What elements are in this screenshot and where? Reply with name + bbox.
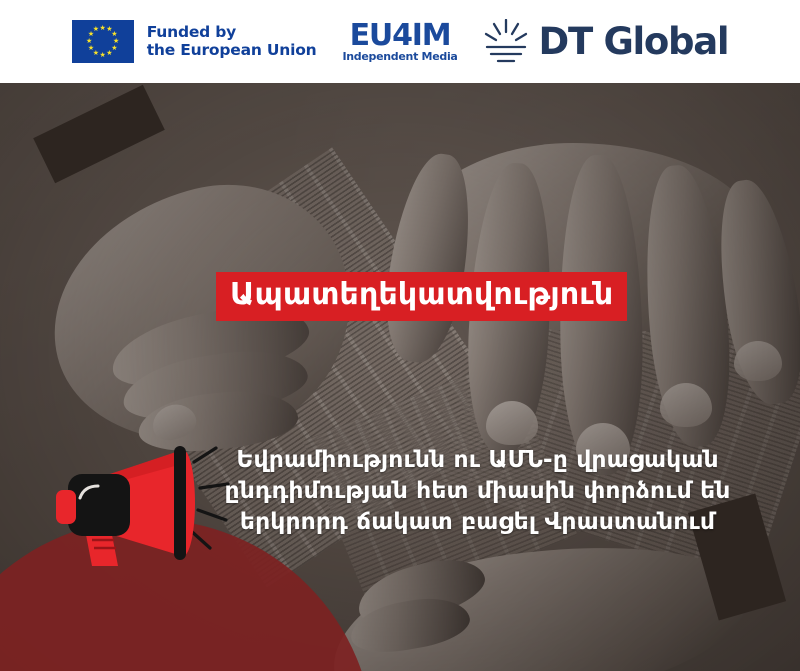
- donor-header: ★★★★★★★★★★★★ Funded by the European Unio…: [0, 0, 800, 83]
- eu-star-icon: ★: [99, 52, 106, 59]
- eu-flag-icon: ★★★★★★★★★★★★: [72, 20, 134, 63]
- body-line-2: ընդդիմության հետ միասին փորձում են: [195, 475, 760, 506]
- sunburst-lines-icon: [484, 19, 528, 65]
- body-text-block: Եվրամիությունն ու ԱՄՆ-ը վրացական ընդդիմո…: [195, 444, 760, 537]
- eu-star-icon: ★: [92, 26, 99, 33]
- eu-funding-line-1: Funded by: [147, 24, 317, 42]
- eu-funding-logo: ★★★★★★★★★★★★ Funded by the European Unio…: [72, 20, 317, 63]
- dt-global-logo: DT Global: [484, 19, 729, 65]
- eu-star-icon: ★: [106, 50, 113, 57]
- title-band: Ապատեղեկատվություն: [216, 272, 627, 321]
- page-title: Ապատեղեկատվություն: [230, 278, 613, 312]
- body-line-3: երկրորդ ճակատ բացել Վրաստանում: [195, 506, 760, 537]
- eu4im-tagline: Independent Media: [342, 50, 457, 63]
- dt-global-wordmark: DT Global: [539, 23, 729, 60]
- eu-star-icon: ★: [86, 38, 93, 45]
- eu4im-wordmark: EU4IM: [350, 21, 451, 50]
- eu-star-icon: ★: [87, 45, 94, 52]
- eu-funding-text: Funded by the European Union: [147, 24, 317, 59]
- poster-root: Ապատեղեկատվություն Եվրամիությունն ու ԱՄՆ…: [0, 0, 800, 671]
- body-line-1: Եվրամիությունն ու ԱՄՆ-ը վրացական: [195, 444, 760, 475]
- eu-funding-line-2: the European Union: [147, 42, 317, 60]
- eu4im-logo: EU4IM Independent Media: [342, 21, 457, 63]
